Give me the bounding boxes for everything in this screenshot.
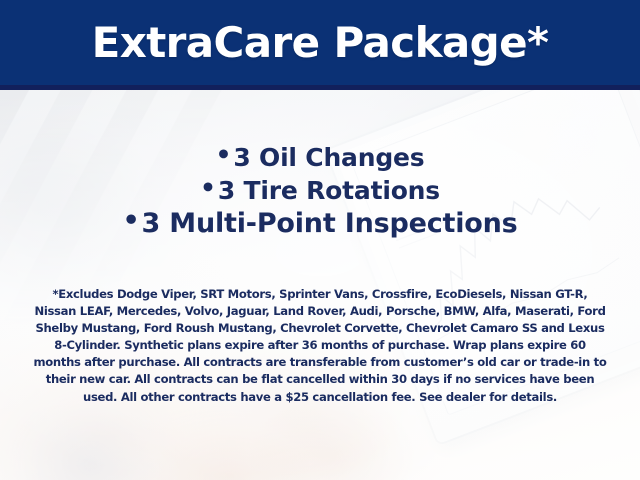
extracare-package-ad: ExtraCare Package* •3 Oil Changes •3 Tir… bbox=[0, 0, 640, 480]
benefit-label: 3 Multi-Point Inspections bbox=[142, 208, 518, 239]
header-divider-rule bbox=[0, 85, 640, 90]
benefits-list: •3 Oil Changes •3 Tire Rotations •3 Mult… bbox=[0, 140, 640, 240]
benefit-item-tire-rotations: •3 Tire Rotations bbox=[0, 173, 640, 206]
benefit-label: 3 Oil Changes bbox=[233, 143, 424, 172]
disclaimer-text: *Excludes Dodge Viper, SRT Motors, Sprin… bbox=[30, 286, 610, 406]
benefit-label: 3 Tire Rotations bbox=[218, 176, 440, 205]
page-title: ExtraCare Package* bbox=[0, 0, 640, 85]
benefit-item-oil-changes: •3 Oil Changes bbox=[0, 140, 640, 173]
benefit-item-multi-point-inspections: •3 Multi-Point Inspections bbox=[0, 205, 640, 240]
bullet-icon: • bbox=[122, 205, 139, 237]
bullet-icon: • bbox=[200, 173, 216, 203]
bullet-icon: • bbox=[216, 140, 232, 170]
